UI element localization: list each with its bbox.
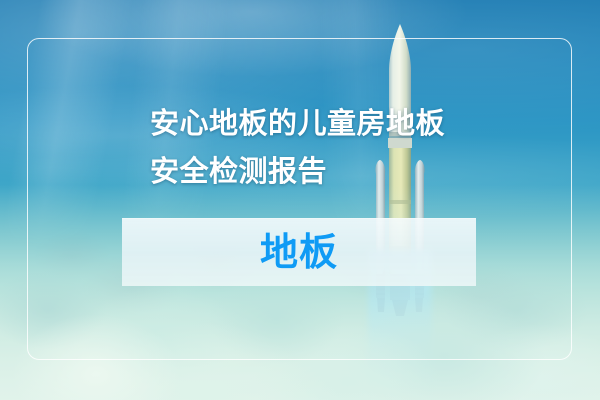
page-title: 安心地板的儿童房地板安全检测报告 bbox=[150, 100, 460, 196]
keyword-label: 地板 bbox=[260, 234, 338, 272]
keyword-panel: 地板 bbox=[122, 218, 476, 286]
promo-banner: 安心地板的儿童房地板安全检测报告 地板 bbox=[0, 0, 600, 400]
